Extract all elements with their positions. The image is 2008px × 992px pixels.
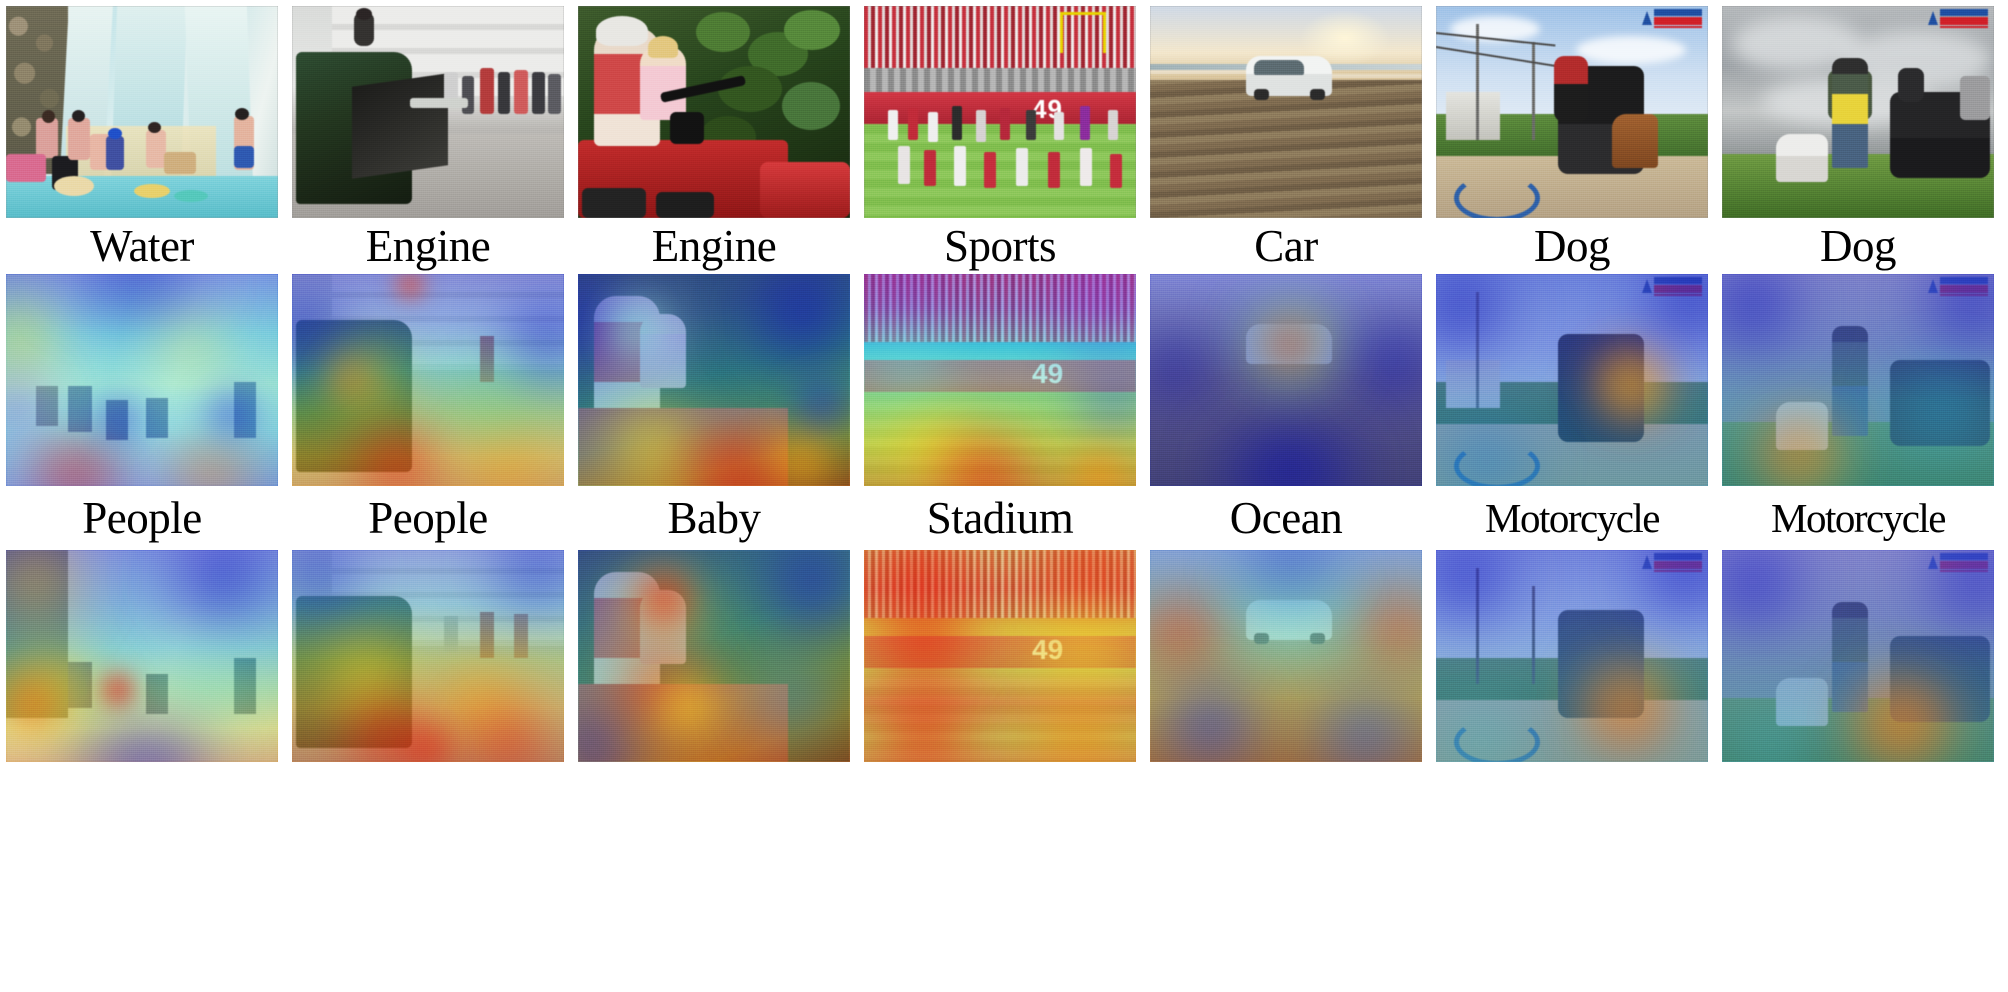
photo-motorcycle-dog-overcast <box>1722 6 1994 218</box>
photo-row-original: 49 <box>0 6 2008 218</box>
photo-car-beach <box>1150 6 1422 218</box>
label-r1c7: Dog <box>1722 220 1994 272</box>
label-r2c3: Baby <box>578 492 850 544</box>
heatmap-water <box>6 274 278 486</box>
photo-football-stadium: 49 <box>864 6 1136 218</box>
label-r1c1: Water <box>6 220 278 272</box>
grid-cell-r2c3 <box>578 274 850 486</box>
grid-cell-r3c7 <box>1722 550 1994 762</box>
grid-cell-r1c1 <box>6 6 278 218</box>
photo-tractor-man-baby <box>578 6 850 218</box>
label-row-2: People People Baby Stadium Ocean Motorcy… <box>0 492 2008 544</box>
heatmap-baby <box>578 550 850 762</box>
heatmap-people-street <box>292 550 564 762</box>
grid-cell-r3c1 <box>6 550 278 762</box>
heatmap-row-1: 49 <box>0 274 2008 486</box>
label-r2c5: Ocean <box>1150 492 1422 544</box>
label-r2c1: People <box>6 492 278 544</box>
grid-cell-r3c3 <box>578 550 850 762</box>
label-r1c2: Engine <box>292 220 564 272</box>
heatmap-stadium: 49 <box>864 550 1136 762</box>
label-r1c6: Dog <box>1436 220 1708 272</box>
grid-cell-r1c4: 49 <box>864 6 1136 218</box>
heatmap-row-2: 49 <box>0 550 2008 762</box>
grid-cell-r1c7 <box>1722 6 1994 218</box>
grid-cell-r1c2 <box>292 6 564 218</box>
grid-cell-r1c3 <box>578 6 850 218</box>
label-row-1: Water Engine Engine Sports Car Dog Dog <box>0 220 2008 272</box>
grid-cell-r1c5 <box>1150 6 1422 218</box>
heatmap-ocean <box>1150 550 1422 762</box>
photo-motorcycle-dog-day <box>1436 6 1708 218</box>
label-r1c4: Sports <box>864 220 1136 272</box>
heatmap-motorcycle-day <box>1436 550 1708 762</box>
grid-cell-r2c6 <box>1436 274 1708 486</box>
watermark-logo <box>1642 9 1704 29</box>
heatmap-people-pool <box>6 550 278 762</box>
watermark-logo <box>1928 9 1990 29</box>
grid-cell-r3c4: 49 <box>864 550 1136 762</box>
label-r2c7: Motorcycle <box>1722 492 1994 544</box>
photo-engine-street <box>292 6 564 218</box>
heatmap-engine-street <box>292 274 564 486</box>
grid-cell-r3c6 <box>1436 550 1708 762</box>
grid-cell-r3c5 <box>1150 550 1422 762</box>
heatmap-dog-day <box>1436 274 1708 486</box>
label-r1c3: Engine <box>578 220 850 272</box>
grid-cell-r2c2 <box>292 274 564 486</box>
grid-cell-r2c4: 49 <box>864 274 1136 486</box>
grid-cell-r2c1 <box>6 274 278 486</box>
grid-cell-r2c7 <box>1722 274 1994 486</box>
heatmap-car <box>1150 274 1422 486</box>
photo-water-slide <box>6 6 278 218</box>
label-r1c5: Car <box>1150 220 1422 272</box>
attention-heatmap-figure: 49 <box>0 0 2008 992</box>
label-r2c6: Motorcycle <box>1436 492 1708 544</box>
label-r2c4: Stadium <box>864 492 1136 544</box>
grid-cell-r2c5 <box>1150 274 1422 486</box>
heatmap-motorcycle-overcast <box>1722 550 1994 762</box>
grid-cell-r3c2 <box>292 550 564 762</box>
heatmap-sports: 49 <box>864 274 1136 486</box>
grid-cell-r1c6 <box>1436 6 1708 218</box>
heatmap-tractor <box>578 274 850 486</box>
label-r2c2: People <box>292 492 564 544</box>
heatmap-dog-overcast <box>1722 274 1994 486</box>
